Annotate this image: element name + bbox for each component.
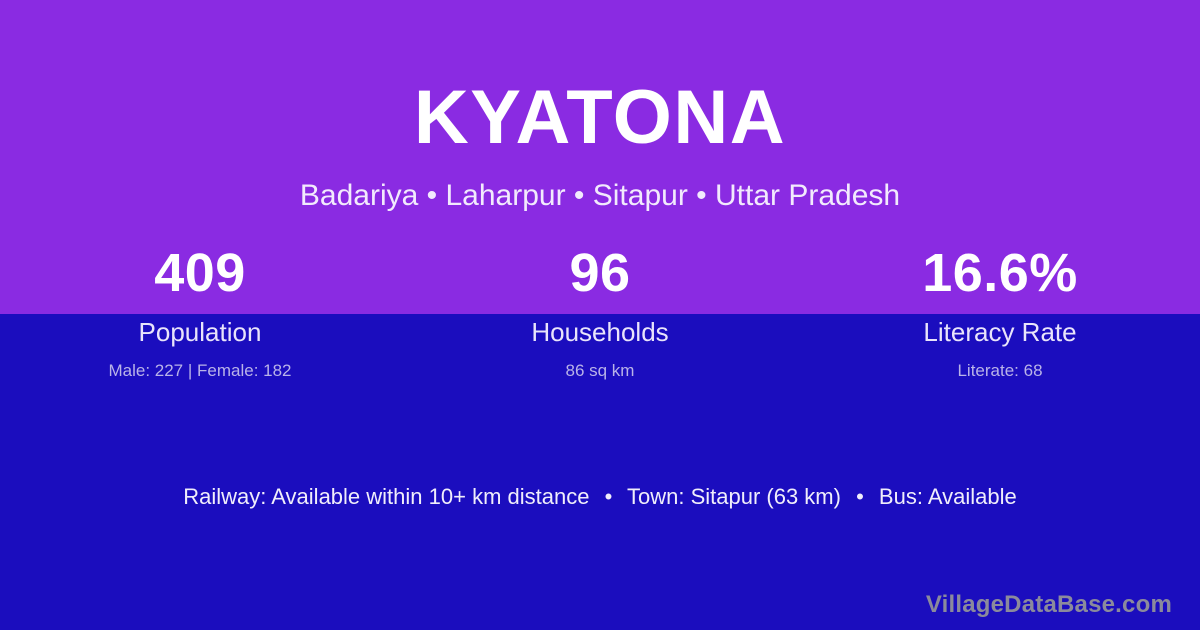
transport-railway: Railway: Available within 10+ km distanc… [183,484,589,509]
breadcrumb: Badariya • Laharpur • Sitapur • Uttar Pr… [0,181,1200,211]
stats-row: 409 Population Male: 227 | Female: 182 9… [0,246,1200,379]
transport-town: Town: Sitapur (63 km) [627,484,841,509]
stat-sub-population: Male: 227 | Female: 182 [0,362,400,379]
stat-sub-households: 86 sq km [400,362,800,379]
stat-card-households: 96 Households 86 sq km [400,246,800,379]
stat-card-population: 409 Population Male: 227 | Female: 182 [0,246,400,379]
stat-sub-literacy-rate: Literate: 68 [800,362,1200,379]
stat-label-literacy-rate: Literacy Rate [800,319,1200,345]
transport-bus: Bus: Available [879,484,1017,509]
transport-separator-2: • [847,486,873,508]
transport-separator-1: • [596,486,622,508]
stat-label-population: Population [0,319,400,345]
stat-value-literacy-rate: 16.6% [800,246,1200,300]
page-title: KYATONA [0,80,1200,156]
stat-value-households: 96 [400,246,800,300]
village-info-card: KYATONA Badariya • Laharpur • Sitapur • … [0,0,1200,630]
stat-label-households: Households [400,319,800,345]
site-watermark: VillageDataBase.com [926,593,1172,617]
stat-value-population: 409 [0,246,400,300]
stat-card-literacy-rate: 16.6% Literacy Rate Literate: 68 [800,246,1200,379]
transport-info-row: Railway: Available within 10+ km distanc… [0,486,1200,508]
